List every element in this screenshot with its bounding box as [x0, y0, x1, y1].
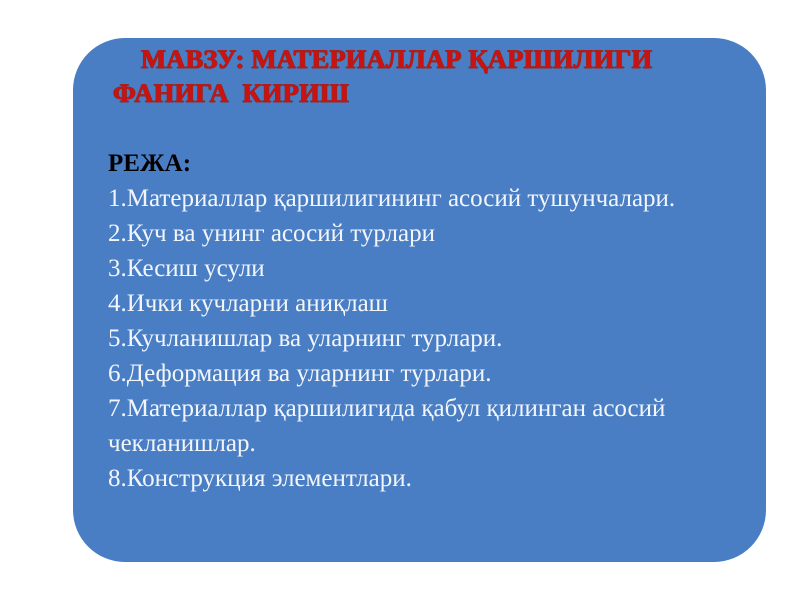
slide-body: РЕЖА: 1.Материаллар қаршилигининг асосий… — [108, 146, 748, 496]
plan-heading: РЕЖА: — [108, 146, 748, 181]
content-panel: МАВЗУ: МАТЕРИАЛЛАР ҚАРШИЛИГИ ФАНИГА КИРИ… — [73, 38, 766, 562]
list-item: 5.Кучланишлар ва уларнинг турлари. — [108, 321, 748, 356]
list-item: 3.Кесиш усули — [108, 251, 748, 286]
plan-list: 1.Материаллар қаршилигининг асосий тушун… — [108, 181, 748, 496]
list-item: 7.Материаллар қаршилигида қабул қилинган… — [108, 391, 748, 461]
list-item: 4.Ички кучларни аниқлаш — [108, 286, 748, 321]
slide-title: МАВЗУ: МАТЕРИАЛЛАР ҚАРШИЛИГИ ФАНИГА КИРИ… — [73, 42, 766, 110]
title-line-2: ФАНИГА КИРИШ — [107, 76, 758, 110]
title-line-1: МАВЗУ: МАТЕРИАЛЛАР ҚАРШИЛИГИ — [107, 42, 758, 76]
list-item: 2.Куч ва унинг асосий турлари — [108, 216, 748, 251]
slide-canvas: МАВЗУ: МАТЕРИАЛЛАР ҚАРШИЛИГИ ФАНИГА КИРИ… — [0, 0, 800, 600]
list-item: 1.Материаллар қаршилигининг асосий тушун… — [108, 181, 748, 216]
list-item: 6.Деформация ва уларнинг турлари. — [108, 356, 748, 391]
list-item: 8.Конструкция элементлари. — [108, 461, 748, 496]
